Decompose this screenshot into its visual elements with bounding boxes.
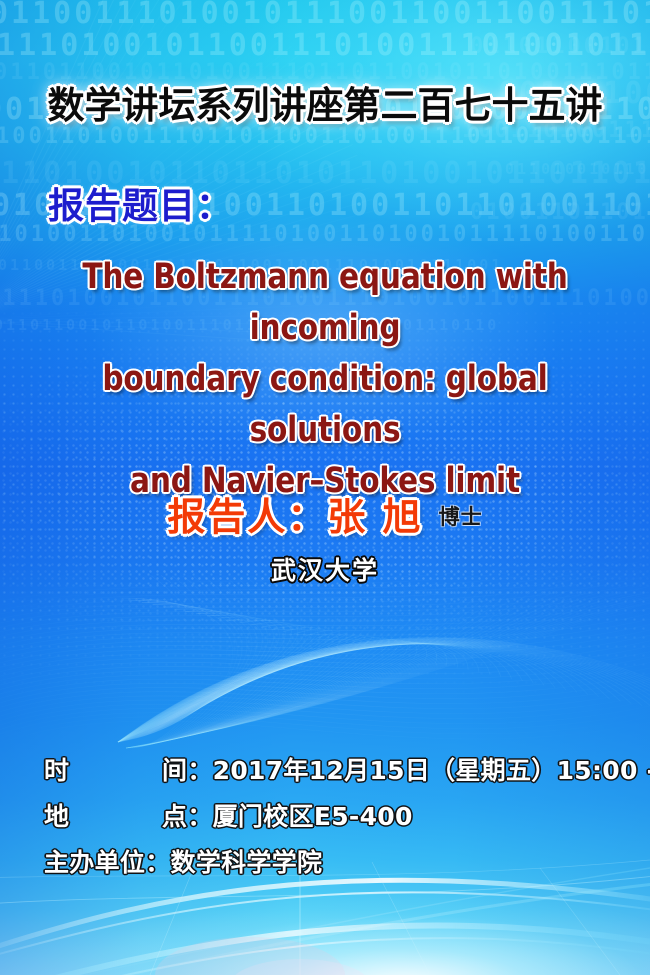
info-value-time: 2017年12月15日（星期五）15:00 - 16:00 bbox=[213, 756, 650, 785]
talk-title: The Boltzmann equation with incoming bou… bbox=[35, 252, 616, 507]
info-key-organizer-text: 主办单位 bbox=[44, 848, 145, 877]
info-sep-organizer: ： bbox=[145, 848, 170, 877]
info-value-place: 厦门校区E5-400 bbox=[213, 802, 413, 831]
info-key-time: 时 bbox=[44, 748, 162, 794]
speaker-degree: 博士 bbox=[439, 505, 483, 529]
info-sep-place: ： bbox=[187, 802, 212, 831]
speaker-row: 报告人：张 旭博士 bbox=[0, 486, 650, 541]
info-key-place-text2: 点 bbox=[162, 802, 187, 831]
info-key-place-text: 地 bbox=[44, 802, 69, 831]
talk-title-line-2: boundary condition: global solutions bbox=[35, 354, 616, 456]
event-info-block: 时间：2017年12月15日（星期五）15:00 - 16:00 地点：厦门校区… bbox=[44, 748, 624, 886]
info-key-place: 地 bbox=[44, 794, 162, 840]
info-line-place: 地点：厦门校区E5-400 bbox=[44, 794, 624, 840]
info-line-time: 时间：2017年12月15日（星期五）15:00 - 16:00 bbox=[44, 748, 624, 794]
info-key-time-text2: 间 bbox=[162, 756, 187, 785]
poster-content: 数学讲坛系列讲座第二百七十五讲 报告题目： The Boltzmann equa… bbox=[0, 0, 650, 975]
speaker-name: 报告人：张 旭 bbox=[167, 495, 422, 539]
poster-canvas: 0110011101001011100110011001110100101110… bbox=[0, 0, 650, 975]
talk-title-line-1: The Boltzmann equation with incoming bbox=[35, 252, 616, 354]
info-value-organizer: 数学科学学院 bbox=[171, 848, 323, 877]
speaker-affiliation: 武汉大学 bbox=[0, 551, 650, 587]
talk-topic-label: 报告题目： bbox=[48, 185, 233, 229]
info-line-organizer: 主办单位：数学科学学院 bbox=[44, 840, 624, 886]
info-key-time-text: 时 bbox=[44, 756, 69, 785]
info-sep-time: ： bbox=[187, 756, 212, 785]
banner-title: 数学讲坛系列讲座第二百七十五讲 bbox=[0, 83, 650, 129]
info-key-organizer: 主办单位 bbox=[44, 840, 145, 886]
